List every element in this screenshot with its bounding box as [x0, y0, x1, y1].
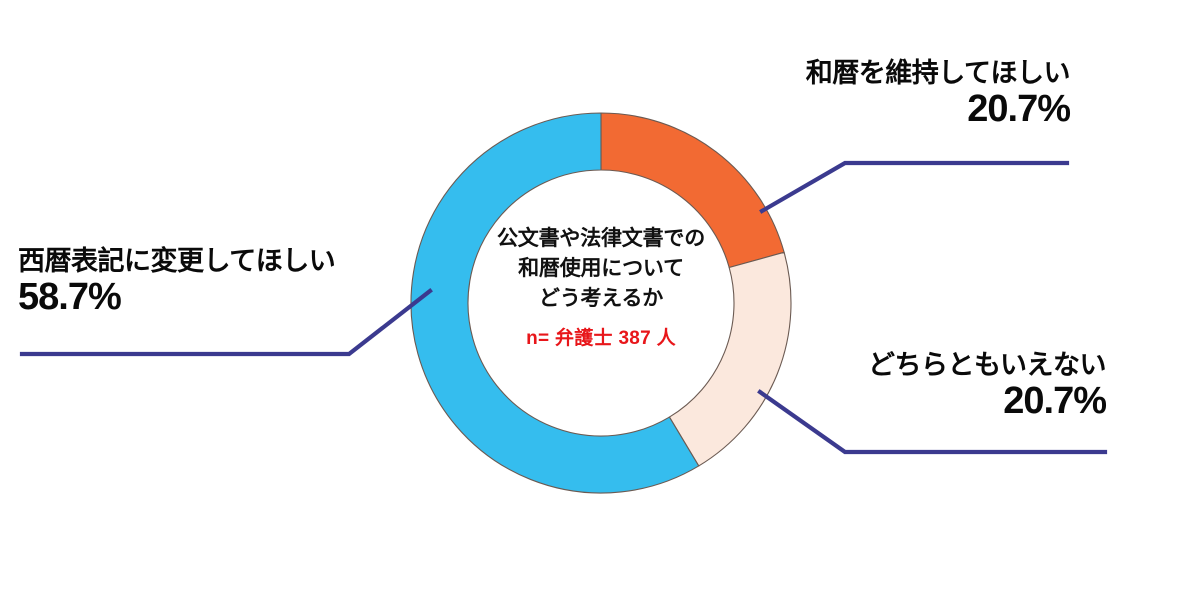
- callout-wareki: 和暦を維持してほしい 20.7%: [752, 58, 1070, 131]
- donut-slices: [411, 113, 791, 493]
- slice-wareki[interactable]: [601, 113, 784, 268]
- callout-wareki-value: 20.7%: [752, 88, 1070, 131]
- slice-dochira[interactable]: [669, 252, 791, 466]
- callout-wareki-title: 和暦を維持してほしい: [752, 58, 1070, 88]
- callout-seireki-value: 58.7%: [18, 276, 396, 319]
- callout-dochira-title: どちらともいえない: [790, 350, 1106, 380]
- leader-line-wareki: [762, 163, 1067, 211]
- callout-seireki: 西暦表記に変更してほしい 58.7%: [18, 246, 396, 319]
- callout-seireki-title: 西暦表記に変更してほしい: [18, 246, 396, 276]
- callout-dochira: どちらともいえない 20.7%: [790, 350, 1106, 423]
- donut-chart-figure: 公文書や法律文書での 和暦使用について どう考えるか n= 弁護士 387 人 …: [0, 0, 1200, 600]
- callout-dochira-value: 20.7%: [790, 380, 1106, 423]
